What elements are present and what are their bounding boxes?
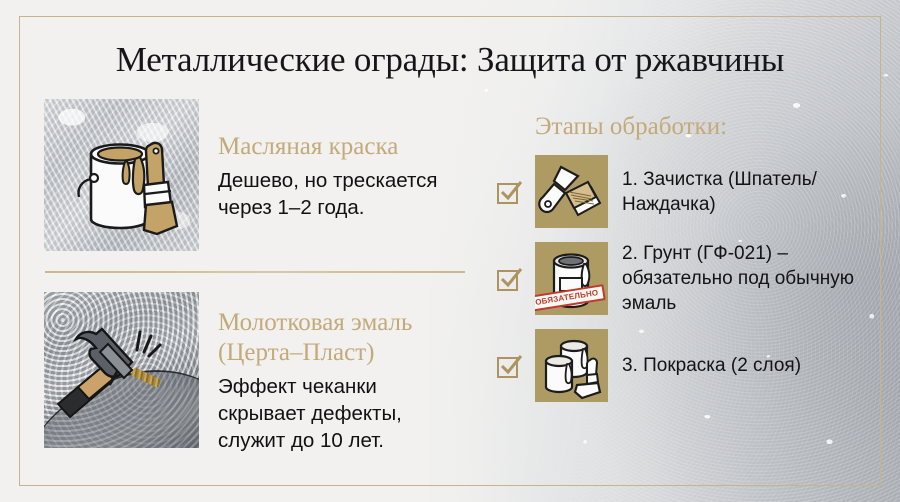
primer-can-icon: ОБЯЗАТЕЛЬНО <box>535 242 608 315</box>
putty-knife-and-sandpaper-icon <box>535 155 608 228</box>
slide-root: Металлические ограды: Защита от ржавчины <box>0 0 900 502</box>
step-label: 1. Зачистка (Шпатель/Наждачка) <box>620 167 887 217</box>
check-mark-icon <box>500 181 522 201</box>
product-thumbnail-hammer-enamel <box>44 292 199 448</box>
paint-cans-glyph <box>535 329 608 402</box>
step-item-1[interactable]: 1. Зачистка (Шпатель/Наждачка) <box>497 155 887 228</box>
check-mark-icon <box>500 268 522 288</box>
scraper-glyph <box>535 155 608 228</box>
checkbox-checked-icon[interactable] <box>497 353 523 379</box>
product-thumbnail-oil-paint <box>44 99 199 251</box>
step-label: 3. Покраска (2 слоя) <box>620 353 801 378</box>
steps-column: Этапы обработки: <box>497 112 887 402</box>
step-item-3[interactable]: 3. Покраска (2 слоя) <box>497 329 887 402</box>
step-item-2[interactable]: ОБЯЗАТЕЛЬНО 2. Грунт (ГФ-021) – обязател… <box>497 241 887 316</box>
check-mark-icon <box>500 355 522 375</box>
hammer-icon <box>44 292 199 448</box>
page-title: Металлические ограды: Защита от ржавчины <box>0 38 900 82</box>
paint-cans-and-brush-icon <box>535 329 608 402</box>
steps-heading: Этапы обработки: <box>535 112 887 142</box>
products-column: Масляная краска Дешево, но трескается че… <box>44 99 469 454</box>
product-text: Масляная краска Дешево, но трескается че… <box>218 99 469 221</box>
paint-can-and-brush-icon <box>44 99 199 251</box>
product-text: Молотковая эмаль (Церта–Пласт) Эффект че… <box>218 292 469 454</box>
product-heading: Молотковая эмаль (Церта–Пласт) <box>218 308 469 368</box>
checkbox-checked-icon[interactable] <box>497 266 523 292</box>
step-label: 2. Грунт (ГФ-021) – обязательно под обыч… <box>620 241 887 316</box>
section-divider <box>45 271 465 273</box>
product-description: Дешево, но трескается через 1–2 года. <box>218 167 469 221</box>
product-description: Эффект чеканки скрывает дефекты, служит … <box>218 373 469 454</box>
product-heading: Масляная краска <box>218 132 469 162</box>
product-item: Масляная краска Дешево, но трескается че… <box>44 99 469 251</box>
product-item: Молотковая эмаль (Церта–Пласт) Эффект че… <box>44 292 469 454</box>
checkbox-checked-icon[interactable] <box>497 179 523 205</box>
